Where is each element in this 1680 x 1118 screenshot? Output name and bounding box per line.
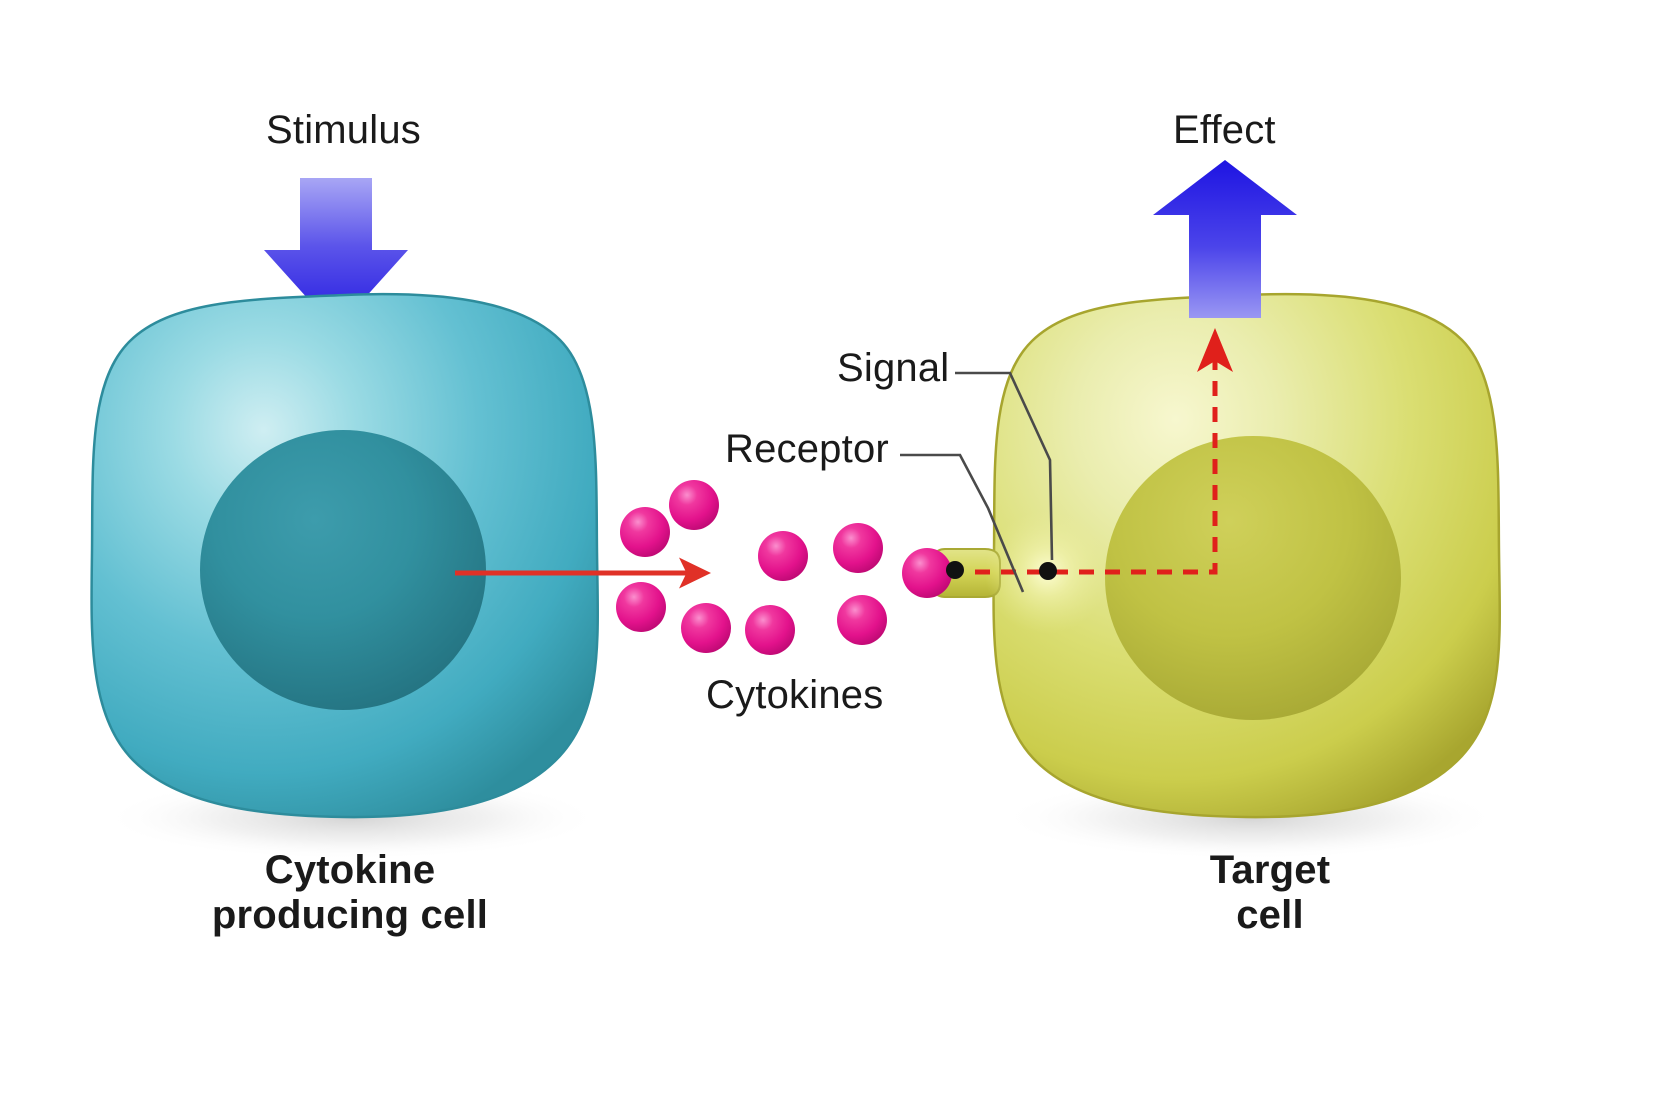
cytokine-sphere xyxy=(758,531,808,581)
cytokine-sphere xyxy=(745,605,795,655)
cytokine-sphere xyxy=(620,507,670,557)
cytokine-cloud xyxy=(616,480,887,655)
target-cell-nucleus xyxy=(1105,436,1401,720)
caption-line-1: Target xyxy=(1060,848,1480,893)
cytokine-producing-cell xyxy=(92,294,598,817)
producing-cell-nucleus xyxy=(200,430,486,710)
caption-line-1: Cytokine xyxy=(140,848,560,893)
cytokine-sphere xyxy=(616,582,666,632)
label-stimulus: Stimulus xyxy=(266,108,421,153)
bound-cytokine xyxy=(902,548,952,598)
figure-svg xyxy=(0,0,1680,1118)
label-cytokines: Cytokines xyxy=(706,673,883,718)
diagram-canvas: Stimulus Effect Signal Receptor Cytokine… xyxy=(0,0,1680,1118)
receptor-anchor-dot xyxy=(946,561,964,579)
caption-line-2: cell xyxy=(1060,893,1480,938)
caption-line-2: producing cell xyxy=(140,893,560,938)
cytokine-sphere xyxy=(681,603,731,653)
cytokine-sphere xyxy=(833,523,883,573)
caption-target-cell: Target cell xyxy=(1060,848,1480,938)
signal-anchor-dot xyxy=(1039,562,1057,580)
label-receptor: Receptor xyxy=(725,427,889,472)
label-signal: Signal xyxy=(837,346,949,391)
cytokine-sphere xyxy=(669,480,719,530)
caption-cytokine-producing-cell: Cytokine producing cell xyxy=(140,848,560,938)
cytokine-sphere xyxy=(837,595,887,645)
label-effect: Effect xyxy=(1173,108,1276,153)
